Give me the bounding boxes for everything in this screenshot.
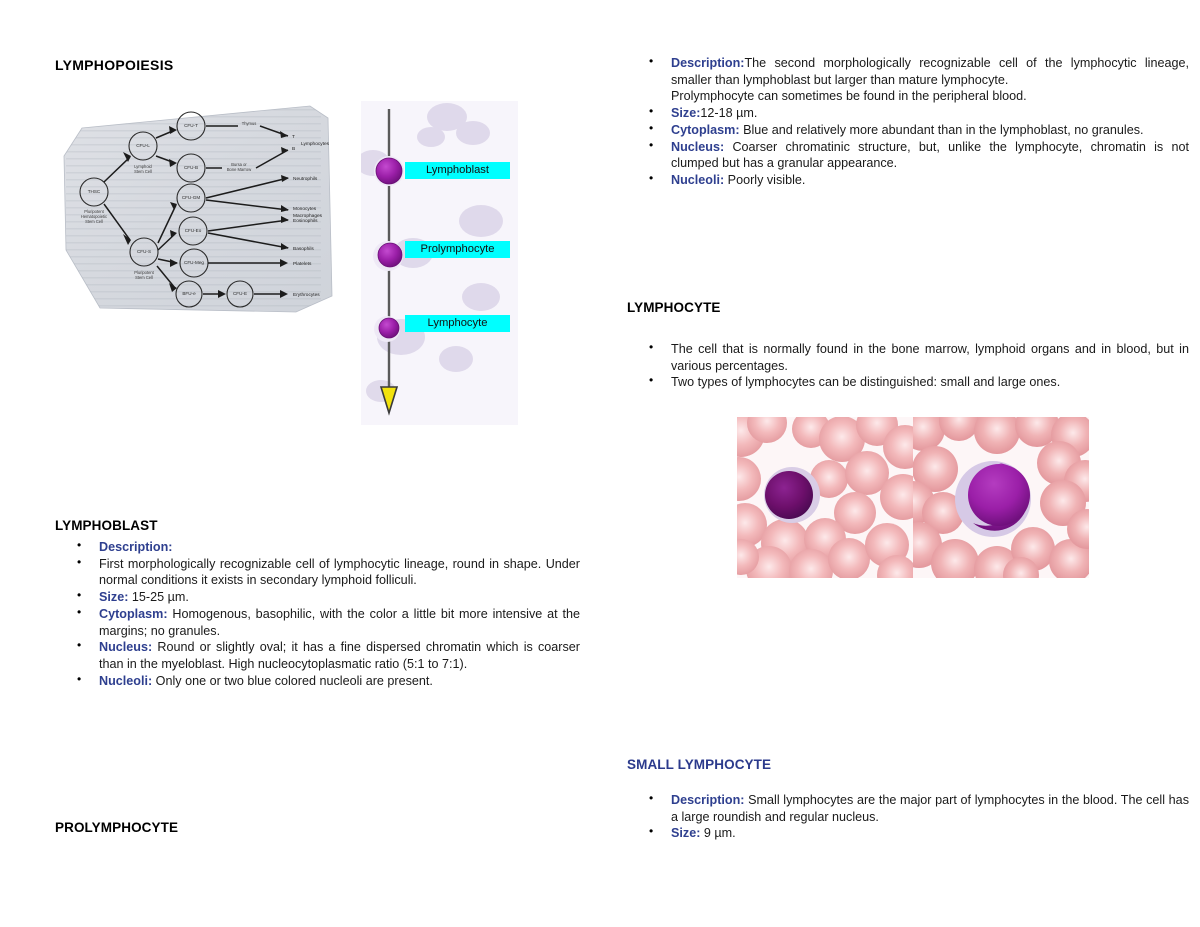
list-item: Size:12-18 µm. (627, 105, 1189, 122)
hematopoiesis-diagram-image: THSC CFU-L CFU-S CFU-T CFU-B CFU-GM CFU-… (60, 100, 336, 320)
bullet-label: Size: (671, 106, 700, 120)
prolymphocyte-description-extra: Prolymphocyte can sometimes be found in … (671, 88, 1189, 105)
svg-text:Stem Cell: Stem Cell (85, 219, 103, 224)
lymphoblast-heading: LYMPHOBLAST (55, 518, 580, 533)
bullet-label: Nucleus: (671, 140, 724, 154)
lymphoblast-description-paragraph: First morphologically recognizable cell … (55, 556, 580, 589)
lymphocyte-maturation-diagram: Lymphoblast Prolymphocyte Lymphocyte (361, 101, 518, 425)
list-item: The cell that is normally found in the b… (627, 341, 1189, 374)
list-item: Size: 15-25 µm. (55, 589, 580, 606)
list-item: Nucleoli: Poorly visible. (627, 172, 1189, 189)
svg-text:CFU-E: CFU-E (233, 291, 247, 296)
bullet-text: Poorly visible. (724, 173, 805, 187)
svg-text:Stem Cell: Stem Cell (135, 275, 153, 280)
svg-text:CFU-L: CFU-L (136, 143, 150, 148)
svg-text:CFU-Eo: CFU-Eo (185, 228, 202, 233)
bullet-label: Size: (99, 590, 128, 604)
bullet-label: Description: (99, 540, 172, 554)
list-item: Description: Small lymphocytes are the m… (627, 792, 1189, 825)
bullet-text: Only one or two blue colored nucleoli ar… (152, 674, 433, 688)
lymphocyte-heading: LYMPHOCYTE (627, 300, 1189, 315)
bullet-text: 15-25 µm. (128, 590, 188, 604)
page-title: LYMPHOPOIESIS (55, 57, 174, 73)
bullet-label: Cytoplasm: (671, 123, 740, 137)
svg-text:Monocytes: Monocytes (293, 206, 317, 212)
list-item: Nucleoli: Only one or two blue colored n… (55, 673, 580, 690)
prolymphocyte-bullet-list: Description:The second morphologically r… (627, 55, 1189, 189)
bullet-text: Small lymphocytes are the major part of … (671, 793, 1189, 824)
bullet-text: Homogenous, basophilic, with the color a… (99, 607, 580, 638)
bullet-label: Cytoplasm: (99, 607, 168, 621)
prolymphocyte-section: Description:The second morphologically r… (627, 55, 1189, 189)
small-lymphocyte-bullet-list: Description: Small lymphocytes are the m… (627, 792, 1189, 842)
svg-text:Platelets: Platelets (293, 261, 312, 267)
list-item: Nucleus: Round or slightly oval; it has … (55, 639, 580, 672)
list-item: Nucleus: Coarser chromatinic structure, … (627, 139, 1189, 172)
blood-smear-small-lymphocyte (737, 417, 913, 578)
svg-text:BFU-e: BFU-e (182, 291, 196, 296)
bullet-label: Nucleoli: (671, 173, 724, 187)
small-lymphocyte-heading: SMALL LYMPHOCYTE (627, 757, 1189, 772)
svg-text:CFU-GM: CFU-GM (182, 195, 201, 200)
list-item: Description:The second morphologically r… (627, 55, 1189, 105)
svg-text:Lymphocytes: Lymphocytes (301, 141, 330, 147)
bullet-label: Nucleus: (99, 640, 152, 654)
list-item: Description: (55, 539, 580, 556)
bullet-text: 12-18 µm. (700, 106, 757, 120)
svg-text:Eosinophils: Eosinophils (293, 218, 318, 224)
bullet-label: Description: (671, 793, 744, 807)
bullet-text: Coarser chromatinic structure, but, unli… (671, 140, 1189, 171)
stage-label-lymphocyte: Lymphocyte (405, 315, 510, 332)
svg-text:CFU-S: CFU-S (137, 249, 151, 254)
svg-text:Neutrophils: Neutrophils (293, 176, 318, 182)
lymphocyte-bullet-list: The cell that is normally found in the b… (627, 341, 1189, 391)
lymphocyte-section: LYMPHOCYTE The cell that is normally fou… (627, 300, 1189, 391)
bullet-label: Description: (671, 56, 744, 70)
prolymphocyte-heading: PROLYMPHOCYTE (55, 820, 178, 835)
list-item: Size: 9 µm. (627, 825, 1189, 842)
blood-smear-figure (737, 417, 1089, 578)
document-page: LYMPHOPOIESIS (0, 0, 1200, 927)
svg-text:Erythrocytes: Erythrocytes (293, 292, 320, 298)
blood-smear-large-lymphocyte (913, 417, 1089, 578)
bullet-text: 9 µm. (700, 826, 735, 840)
bullet-text: Blue and relatively more abundant than i… (740, 123, 1144, 137)
svg-text:Basophils: Basophils (293, 246, 314, 252)
bullet-text: Round or slightly oval; it has a fine di… (99, 640, 580, 671)
svg-text:B: B (292, 146, 295, 152)
svg-text:Bone Marrow: Bone Marrow (227, 167, 251, 172)
svg-text:CFU-T: CFU-T (184, 123, 198, 128)
lymphoblast-bullet-list: Description: First morphologically recog… (55, 539, 580, 690)
lymphoblast-section: LYMPHOBLAST Description: First morpholog… (55, 518, 580, 690)
bullet-text: The second morphologically recognizable … (671, 56, 1189, 87)
list-item: Two types of lymphocytes can be distingu… (627, 374, 1189, 391)
stage-label-lymphoblast: Lymphoblast (405, 162, 510, 179)
svg-text:Thymus: Thymus (242, 121, 257, 126)
svg-text:CFU-Meg: CFU-Meg (184, 260, 204, 265)
list-item: Cytoplasm: Homogenous, basophilic, with … (55, 606, 580, 639)
list-item: Cytoplasm: Blue and relatively more abun… (627, 122, 1189, 139)
svg-text:T: T (292, 134, 295, 140)
svg-text:CFU-B: CFU-B (184, 165, 198, 170)
svg-text:THSC: THSC (88, 189, 101, 194)
stage-label-prolymphocyte: Prolymphocyte (405, 241, 510, 258)
small-lymphocyte-section: SMALL LYMPHOCYTE Description: Small lymp… (627, 757, 1189, 842)
bullet-label: Nucleoli: (99, 674, 152, 688)
svg-text:Stem Cell: Stem Cell (134, 169, 152, 174)
bullet-label: Size: (671, 826, 700, 840)
